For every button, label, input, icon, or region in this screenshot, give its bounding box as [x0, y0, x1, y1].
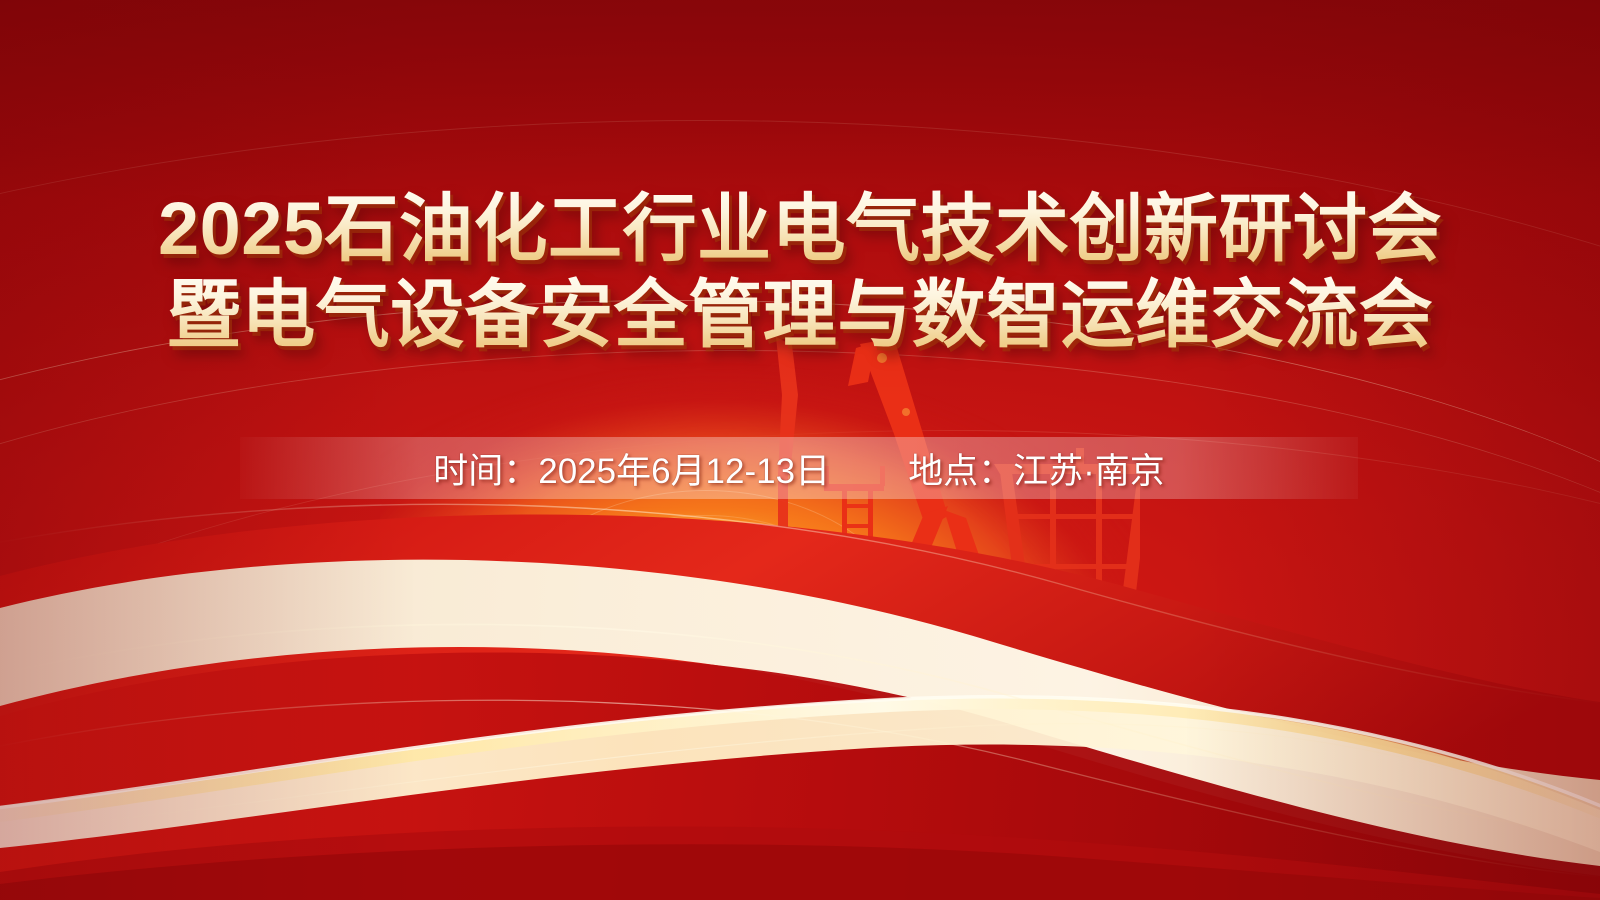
title-line-1: 2025石油化工行业电气技术创新研讨会 [0, 186, 1600, 272]
event-banner: 2025石油化工行业电气技术创新研讨会 暨电气设备安全管理与数智运维交流会 时间… [0, 0, 1600, 900]
title-line-2: 暨电气设备安全管理与数智运维交流会 [0, 272, 1600, 358]
event-location: 地点：江苏·南京 [908, 443, 1165, 494]
event-info-bar: 时间：2025年6月12-13日 地点：江苏·南京 [240, 437, 1358, 499]
page-title: 2025石油化工行业电气技术创新研讨会 暨电气设备安全管理与数智运维交流会 [0, 186, 1600, 358]
event-time: 时间：2025年6月12-13日 [433, 443, 830, 494]
